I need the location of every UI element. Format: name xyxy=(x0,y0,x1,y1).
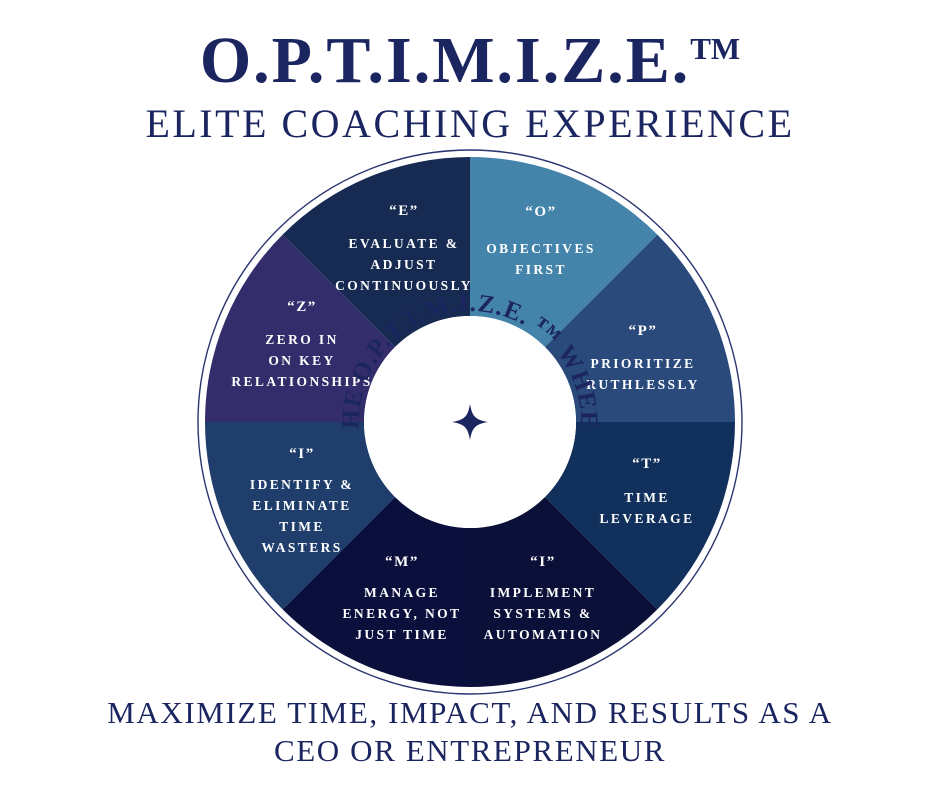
segment-i-identify-letter: “I” xyxy=(289,446,315,462)
segment-t-line-1: LEVERAGE xyxy=(600,511,695,526)
footer-line-2: CEO OR ENTREPRENEUR xyxy=(0,732,940,770)
segment-e-letter: “E” xyxy=(389,203,419,219)
segment-i-identify-line-3: WASTERS xyxy=(261,540,342,555)
segment-z-line-1: ON KEY xyxy=(268,353,335,368)
segment-o-letter: “O” xyxy=(525,204,556,220)
segment-i-identify-line-1: ELIMINATE xyxy=(252,498,351,513)
brand-title: O.P.T.I.M.I.Z.E.TM xyxy=(200,28,740,94)
segment-z-line-0: ZERO IN xyxy=(265,332,338,347)
segment-i-implement-line-0: IMPLEMENT xyxy=(490,585,596,600)
trademark-symbol: TM xyxy=(690,31,740,66)
segment-m-line-0: MANAGE xyxy=(364,585,440,600)
tagline: ELITE COACHING EXPERIENCE xyxy=(0,100,940,147)
optimize-wheel-infographic: O.P.T.I.M.I.Z.E.TM ELITE COACHING EXPERI… xyxy=(0,0,940,788)
segment-t-line-0: TIME xyxy=(624,490,670,505)
wheel-svg: “O” OBJECTIVES FIRST “P” PRIORITIZE RUTH… xyxy=(196,148,744,696)
segment-m-line-1: ENERGY, NOT xyxy=(343,606,462,621)
segment-m-letter: “M” xyxy=(385,554,419,570)
segment-t-letter: “T” xyxy=(632,456,662,472)
segment-i-identify-line-0: IDENTIFY & xyxy=(250,477,354,492)
header: O.P.T.I.M.I.Z.E.TM ELITE COACHING EXPERI… xyxy=(0,28,940,147)
segment-e-line-0: EVALUATE & xyxy=(349,236,460,251)
segment-o-line-1: FIRST xyxy=(515,262,567,277)
segment-o-line-0: OBJECTIVES xyxy=(486,241,596,256)
segment-p-line-1: RUTHLESSLY xyxy=(586,377,700,392)
segment-i-implement-letter: “I” xyxy=(530,554,556,570)
segment-i-identify-line-2: TIME xyxy=(279,519,325,534)
segment-e-line-2: CONTINUOUSLY xyxy=(335,278,473,293)
segment-e-line-1: ADJUST xyxy=(371,257,438,272)
segment-p-line-0: PRIORITIZE xyxy=(590,356,695,371)
segment-z-letter: “Z” xyxy=(287,299,317,315)
optimize-wheel: “O” OBJECTIVES FIRST “P” PRIORITIZE RUTH… xyxy=(196,148,744,696)
footer: MAXIMIZE TIME, IMPACT, AND RESULTS AS A … xyxy=(0,694,940,771)
brand-title-text: O.P.T.I.M.I.Z.E. xyxy=(200,24,690,97)
segment-m-line-2: JUST TIME xyxy=(355,627,449,642)
footer-line-1: MAXIMIZE TIME, IMPACT, AND RESULTS AS A xyxy=(0,694,940,732)
segment-i-implement-line-1: SYSTEMS & xyxy=(493,606,592,621)
segment-i-implement-line-2: AUTOMATION xyxy=(484,627,603,642)
segment-p-letter: “P” xyxy=(629,323,658,339)
